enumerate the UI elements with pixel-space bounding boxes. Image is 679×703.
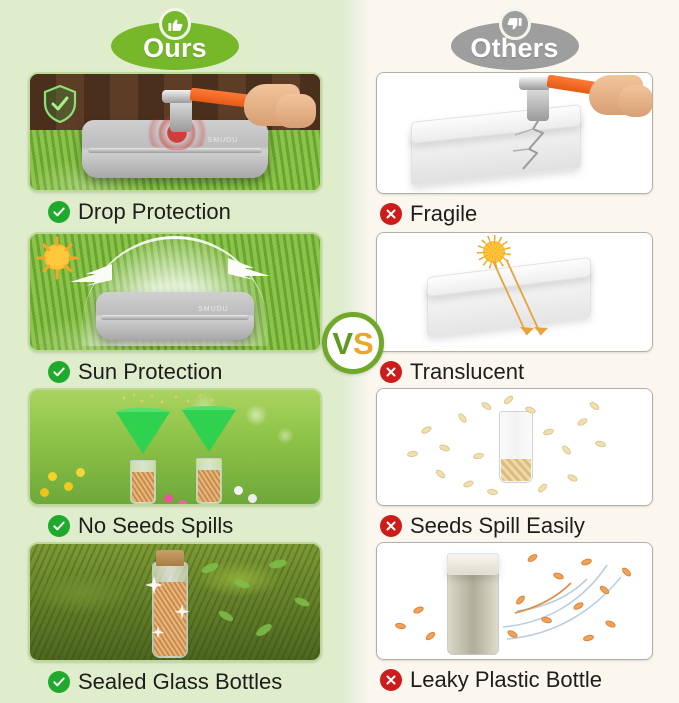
others-caption-3-text: Seeds Spill Easily bbox=[410, 515, 585, 537]
others-column: Others bbox=[350, 0, 679, 703]
vs-badge: VS bbox=[322, 312, 384, 374]
ours-image-3 bbox=[28, 388, 322, 506]
vs-s: S bbox=[353, 326, 374, 361]
others-image-4 bbox=[376, 542, 653, 660]
check-circle-icon bbox=[48, 671, 70, 693]
comparison-infographic: Ours SMUDU bbox=[0, 0, 679, 703]
x-circle-icon bbox=[380, 669, 402, 691]
ours-item-4: Sealed Glass Bottles bbox=[0, 542, 350, 698]
others-image-2 bbox=[376, 232, 653, 352]
ours-caption-4: Sealed Glass Bottles bbox=[0, 666, 350, 698]
ours-image-2: SMUDU bbox=[28, 232, 322, 352]
others-image-1 bbox=[376, 72, 653, 194]
ours-caption-1: Drop Protection bbox=[0, 196, 350, 228]
ours-item-1: SMUDU Drop Protection bbox=[0, 72, 350, 228]
others-item-2: Translucent bbox=[350, 232, 679, 388]
check-circle-icon bbox=[48, 361, 70, 383]
thumbs-down-icon bbox=[499, 8, 531, 40]
others-item-1: Fragile bbox=[350, 72, 679, 230]
ours-caption-4-text: Sealed Glass Bottles bbox=[78, 671, 282, 693]
others-badge: Others bbox=[350, 8, 679, 68]
x-circle-icon bbox=[380, 515, 402, 537]
ours-caption-3-text: No Seeds Spills bbox=[78, 515, 233, 537]
others-caption-1-text: Fragile bbox=[410, 203, 477, 225]
ours-image-4 bbox=[28, 542, 322, 662]
x-circle-icon bbox=[380, 361, 402, 383]
thumbs-up-icon bbox=[159, 8, 191, 40]
sun-rays-icon bbox=[481, 259, 561, 343]
ours-caption-2-text: Sun Protection bbox=[78, 361, 222, 383]
ours-image-1: SMUDU bbox=[28, 72, 322, 192]
ours-column: Ours SMUDU bbox=[0, 0, 350, 703]
ours-item-3: No Seeds Spills bbox=[0, 388, 350, 542]
ours-item-2: SMUDU Sun Protection bbox=[0, 232, 350, 388]
others-image-3 bbox=[376, 388, 653, 506]
shield-check-icon bbox=[42, 84, 78, 129]
others-item-4: Leaky Plastic Bottle bbox=[350, 542, 679, 696]
vs-v: V bbox=[332, 326, 353, 361]
others-caption-3: Seeds Spill Easily bbox=[350, 510, 679, 542]
others-caption-1: Fragile bbox=[350, 198, 679, 230]
others-caption-4-text: Leaky Plastic Bottle bbox=[410, 669, 602, 691]
others-item-3: Seeds Spill Easily bbox=[350, 388, 679, 542]
vs-badge-text: VS bbox=[332, 328, 373, 359]
deflect-arrow-left-icon bbox=[66, 260, 114, 290]
ours-caption-2: Sun Protection bbox=[0, 356, 350, 388]
x-circle-icon bbox=[380, 203, 402, 225]
ours-caption-3: No Seeds Spills bbox=[0, 510, 350, 542]
check-circle-icon bbox=[48, 201, 70, 223]
others-caption-2-text: Translucent bbox=[410, 361, 524, 383]
check-circle-icon bbox=[48, 515, 70, 537]
others-caption-4: Leaky Plastic Bottle bbox=[350, 664, 679, 696]
others-caption-2: Translucent bbox=[350, 356, 679, 388]
deflect-arrow-right-icon bbox=[226, 254, 274, 284]
ours-caption-1-text: Drop Protection bbox=[78, 201, 231, 223]
ours-badge: Ours bbox=[0, 8, 350, 68]
